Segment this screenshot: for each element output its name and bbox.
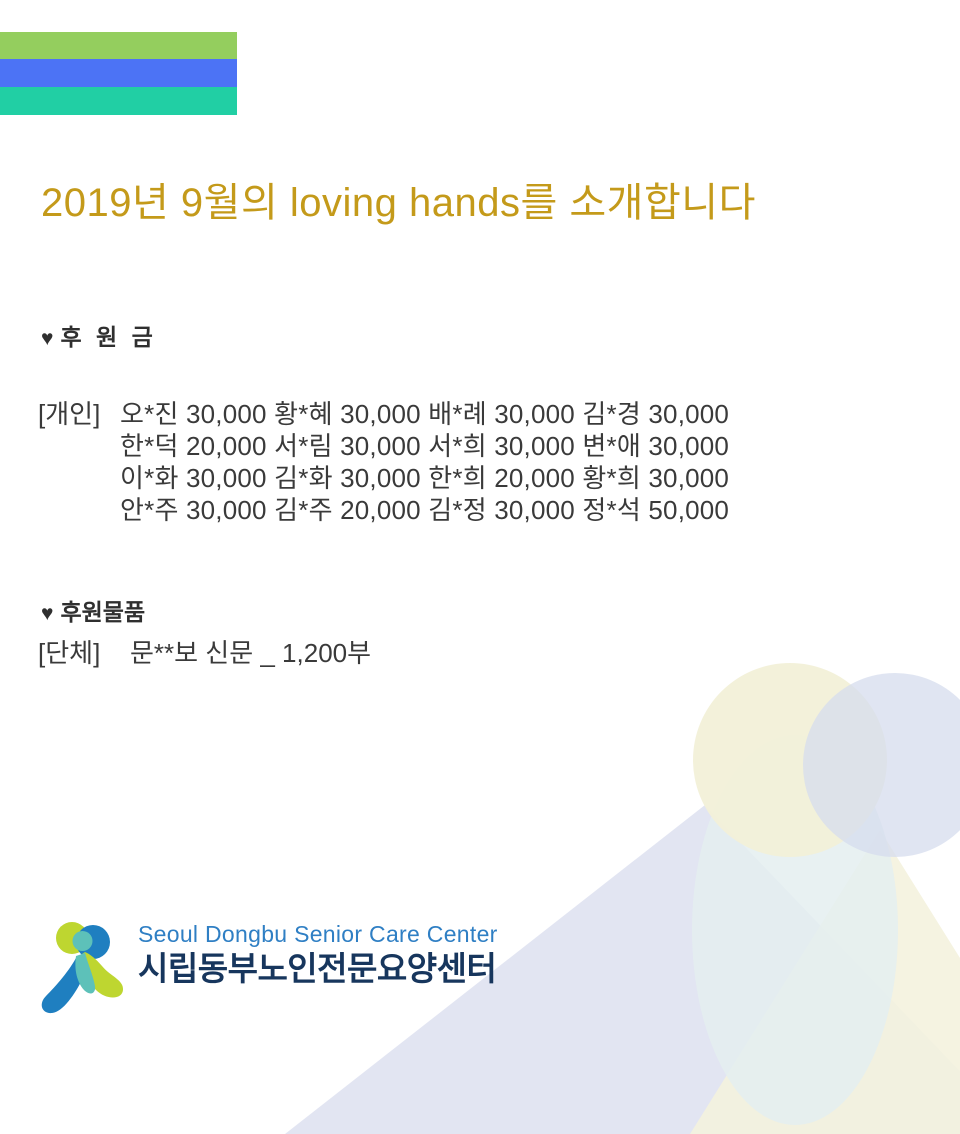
section-heading-goods: ♥후원물품 [41, 593, 145, 627]
list-item: 한*덕 20,000 서*림 30,000 서*희 30,000 변*애 30,… [38, 430, 729, 462]
list-item: [개인]오*진 30,000 황*혜 30,000 배*례 30,000 김*경… [38, 398, 729, 430]
organization-logo: Seoul Dongbu Senior Care Center 시립동부노인전문… [30, 920, 490, 1025]
section-heading-donation: ♥후 원 금 [41, 318, 157, 352]
logo-person-mark-icon [30, 920, 130, 1020]
logo-english-name: Seoul Dongbu Senior Care Center [138, 920, 498, 948]
donation-list: [개인]오*진 30,000 황*혜 30,000 배*례 30,000 김*경… [38, 398, 729, 526]
donation-line-entries: 한*덕 20,000 서*림 30,000 서*희 30,000 변*애 30,… [120, 431, 729, 461]
donation-line-label: [개인] [38, 398, 120, 430]
list-item: 안*주 30,000 김*주 20,000 김*정 30,000 정*석 50,… [38, 494, 729, 526]
header-color-bars [0, 32, 237, 115]
circle-yellow-shape [693, 663, 887, 857]
heart-icon: ♥ [41, 327, 53, 350]
list-item: 이*화 30,000 김*화 30,000 한*희 20,000 황*희 30,… [38, 462, 729, 494]
section-heading-goods-label: 후원물품 [60, 599, 145, 625]
heart-icon: ♥ [41, 602, 53, 625]
goods-line: [단체]문**보 신문 _ 1,200부 [38, 637, 371, 669]
header-bar-green [0, 32, 237, 59]
poster-page: 2019년 9월의 loving hands를 소개합니다 ♥후 원 금 [개인… [0, 0, 960, 1134]
cone-yellow-shape [690, 830, 960, 1134]
donation-line-entries: 이*화 30,000 김*화 30,000 한*희 20,000 황*희 30,… [120, 463, 729, 493]
header-bar-teal [0, 87, 237, 115]
donation-line-entries: 오*진 30,000 황*혜 30,000 배*례 30,000 김*경 30,… [120, 399, 729, 429]
logo-text-block: Seoul Dongbu Senior Care Center 시립동부노인전문… [138, 920, 498, 988]
logo-mark-head-overlap [73, 931, 93, 951]
logo-korean-name: 시립동부노인전문요양센터 [138, 950, 498, 988]
goods-line-entries: 문**보 신문 _ 1,200부 [130, 638, 371, 668]
section-heading-donation-label: 후 원 금 [60, 324, 156, 350]
goods-line-label: [단체] [38, 637, 130, 669]
donation-line-entries: 안*주 30,000 김*주 20,000 김*정 30,000 정*석 50,… [120, 495, 729, 525]
page-title: 2019년 9월의 loving hands를 소개합니다 [41, 178, 756, 228]
cone-mint-shape [692, 735, 898, 1125]
header-bar-blue [0, 59, 237, 87]
circle-lavender-shape [803, 673, 960, 857]
